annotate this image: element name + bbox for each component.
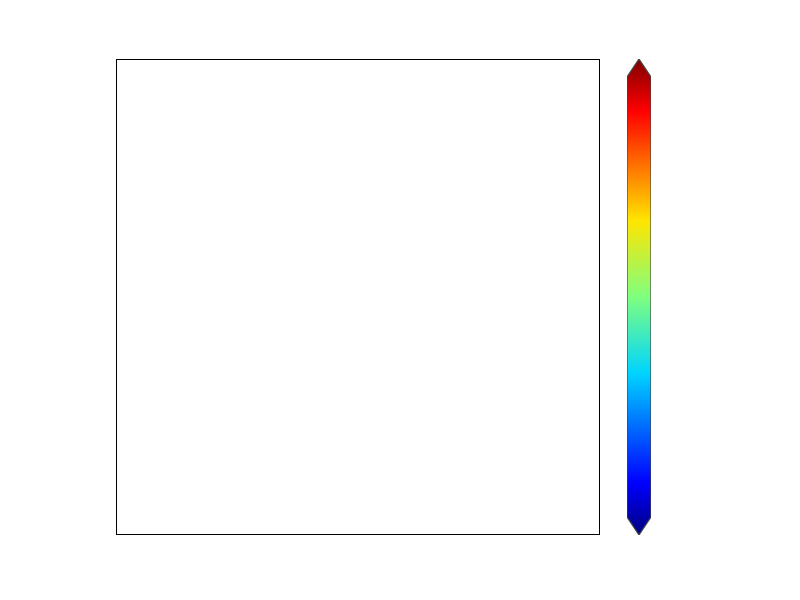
colorbar-gradient xyxy=(627,59,651,535)
heatmap-axes xyxy=(116,59,600,535)
heatmap-image xyxy=(117,60,599,534)
colorbar xyxy=(627,59,651,535)
